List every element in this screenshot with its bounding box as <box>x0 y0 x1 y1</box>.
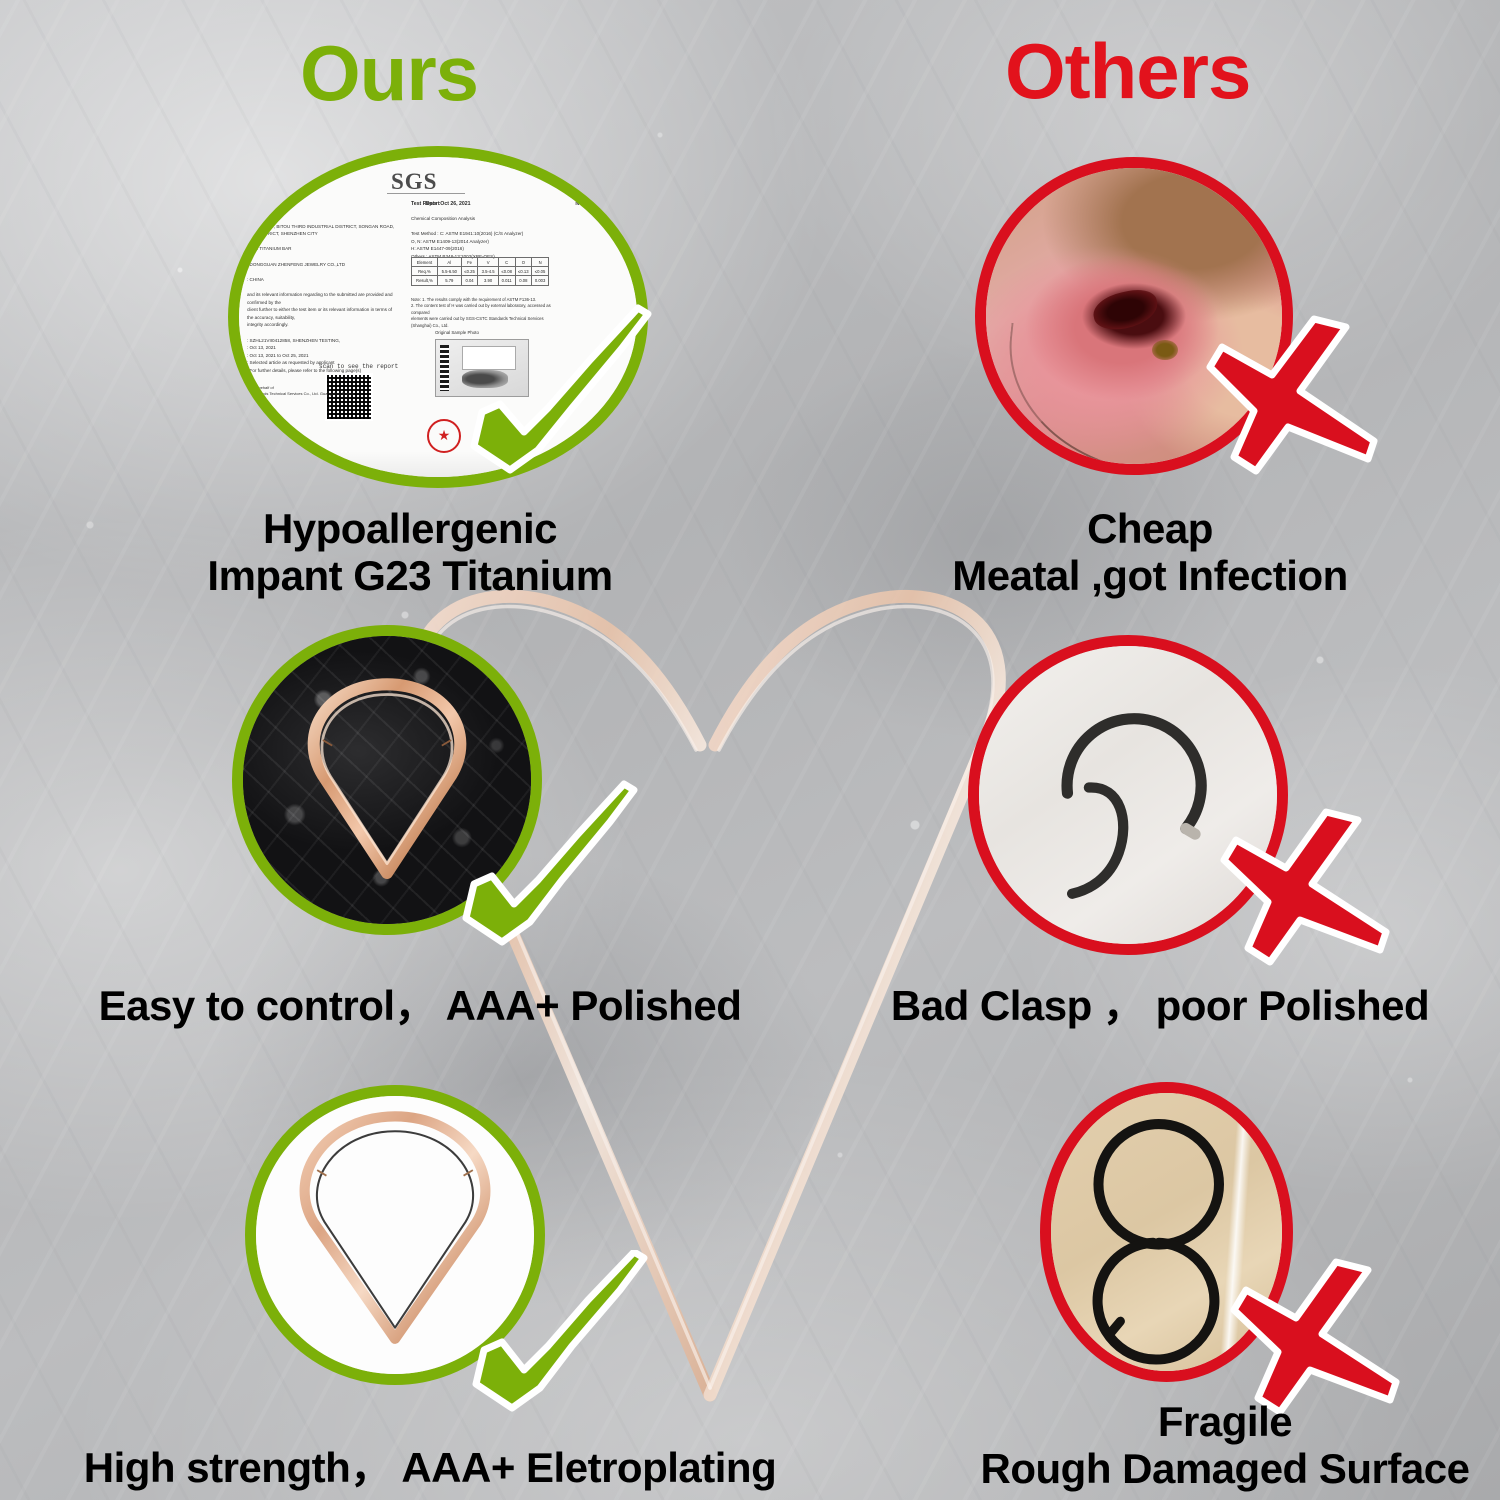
others-row-1-image <box>975 157 1293 475</box>
table-cell: 0.04 <box>461 276 478 285</box>
table-cell: Req.% <box>412 267 438 276</box>
others-row-3-caption: Fragile Rough Damaged Surface <box>950 1398 1500 1492</box>
others-row-2-caption: Bad Clasp ， poor Polished <box>860 982 1460 1029</box>
certificate-title-row: Test Report No. SZHL21VII0407790 <box>411 201 631 207</box>
heading-others: Others <box>1005 26 1250 117</box>
ours-row-1-caption: Hypoallergenic Impant G23 Titanium <box>140 505 680 599</box>
table-cell: C <box>498 258 515 267</box>
broken-clasp-ring <box>979 646 1277 944</box>
qr-code-label: scan to see the report <box>319 363 398 370</box>
table-cell: Al <box>437 258 461 267</box>
table-cell: 0.011 <box>498 276 515 285</box>
table-cell: Result,% <box>412 276 438 285</box>
table-cell: O <box>515 258 532 267</box>
sample-ring-photo <box>462 370 508 388</box>
ours-row-1-image: SGS SZHL21VII0407790 Date :Oct 26, 2021 … <box>228 146 648 488</box>
table-cell: 0.003 <box>532 276 549 285</box>
ours-row-3-caption: High strength， AAA+ Eletroplating <box>40 1444 820 1491</box>
rose-gold-teardrop-ring <box>256 1096 534 1374</box>
hair-strand <box>997 323 1175 475</box>
table-cell: Element <box>412 258 438 267</box>
ours-row-2-caption: Easy to control， AAA+ Polished <box>60 982 780 1029</box>
certificate-footer: and on behalf of C. Standards Technical … <box>245 385 395 397</box>
sgs-logo-underline <box>387 193 465 194</box>
table-cell: ≤0.25 <box>461 267 478 276</box>
others-row-2-image <box>968 635 1288 955</box>
certificate-bottom-shadow <box>239 451 637 477</box>
table-cell: 3.5-4.5 <box>478 267 498 276</box>
heading-ours: Ours <box>300 28 478 119</box>
ruler-strip <box>440 345 449 391</box>
table-row: Req.% 5.5-6.50 ≤0.25 3.5-4.5 ≤0.08 ≤0.13… <box>412 267 549 276</box>
chemical-composition-table: Element Al Fe V C O N Req.% 5.5-6.50 ≤0.… <box>411 257 549 286</box>
certificate-note: Note: 1. The results comply with the req… <box>411 297 551 329</box>
qr-code-icon <box>325 373 373 421</box>
table-cell: ≤0.08 <box>498 267 515 276</box>
table-cell: 5.5-6.50 <box>437 267 461 276</box>
ours-row-3-image <box>245 1085 545 1385</box>
ours-row-2-image <box>232 625 542 935</box>
table-cell: Fe <box>461 258 478 267</box>
sgs-logo: SGS <box>391 169 437 195</box>
others-row-1-caption: Cheap Meatal ,got Infection <box>880 505 1420 599</box>
table-cell: V <box>478 258 498 267</box>
rose-gold-teardrop-ring <box>243 636 531 924</box>
table-cell: ≤0.13 <box>515 267 532 276</box>
red-stamp-icon: ★ <box>427 419 461 453</box>
certificate-report-no: No. SZHL21VII0407790 <box>575 201 631 207</box>
comparison-infographic: Ours Others SGS SZHL21VII0407790 Date :O… <box>0 0 1500 1500</box>
table-header-row: Element Al Fe V C O N <box>412 258 549 267</box>
sgs-certificate: SGS SZHL21VII0407790 Date :Oct 26, 2021 … <box>239 157 637 477</box>
table-cell: 5.79 <box>437 276 461 285</box>
two-damaged-rings <box>1051 1093 1282 1367</box>
others-row-3-image <box>1040 1082 1293 1382</box>
wound-scab <box>1090 286 1161 334</box>
infected-ear-photo <box>986 168 1282 464</box>
sample-tag <box>462 346 516 370</box>
table-cell: ≤0.05 <box>532 267 549 276</box>
original-sample-photo <box>435 339 529 397</box>
sample-photo-label: Original Sample Photo <box>435 329 479 337</box>
certificate-report-no-left: SZHL21VII0407790 <box>247 201 293 207</box>
table-row: Result,% 5.79 0.04 3.90 0.011 0.08 0.003 <box>412 276 549 285</box>
certificate-right-text: Chemical Composition Analysis Test Metho… <box>411 215 541 261</box>
table-cell: 0.08 <box>515 276 532 285</box>
certificate-left-text: XXX CO., LTD. XXXX ROAD, BITOU THIRD IND… <box>247 215 397 374</box>
table-cell: N <box>532 258 549 267</box>
certificate-title: Test Report <box>411 201 439 207</box>
table-cell: 3.90 <box>478 276 498 285</box>
